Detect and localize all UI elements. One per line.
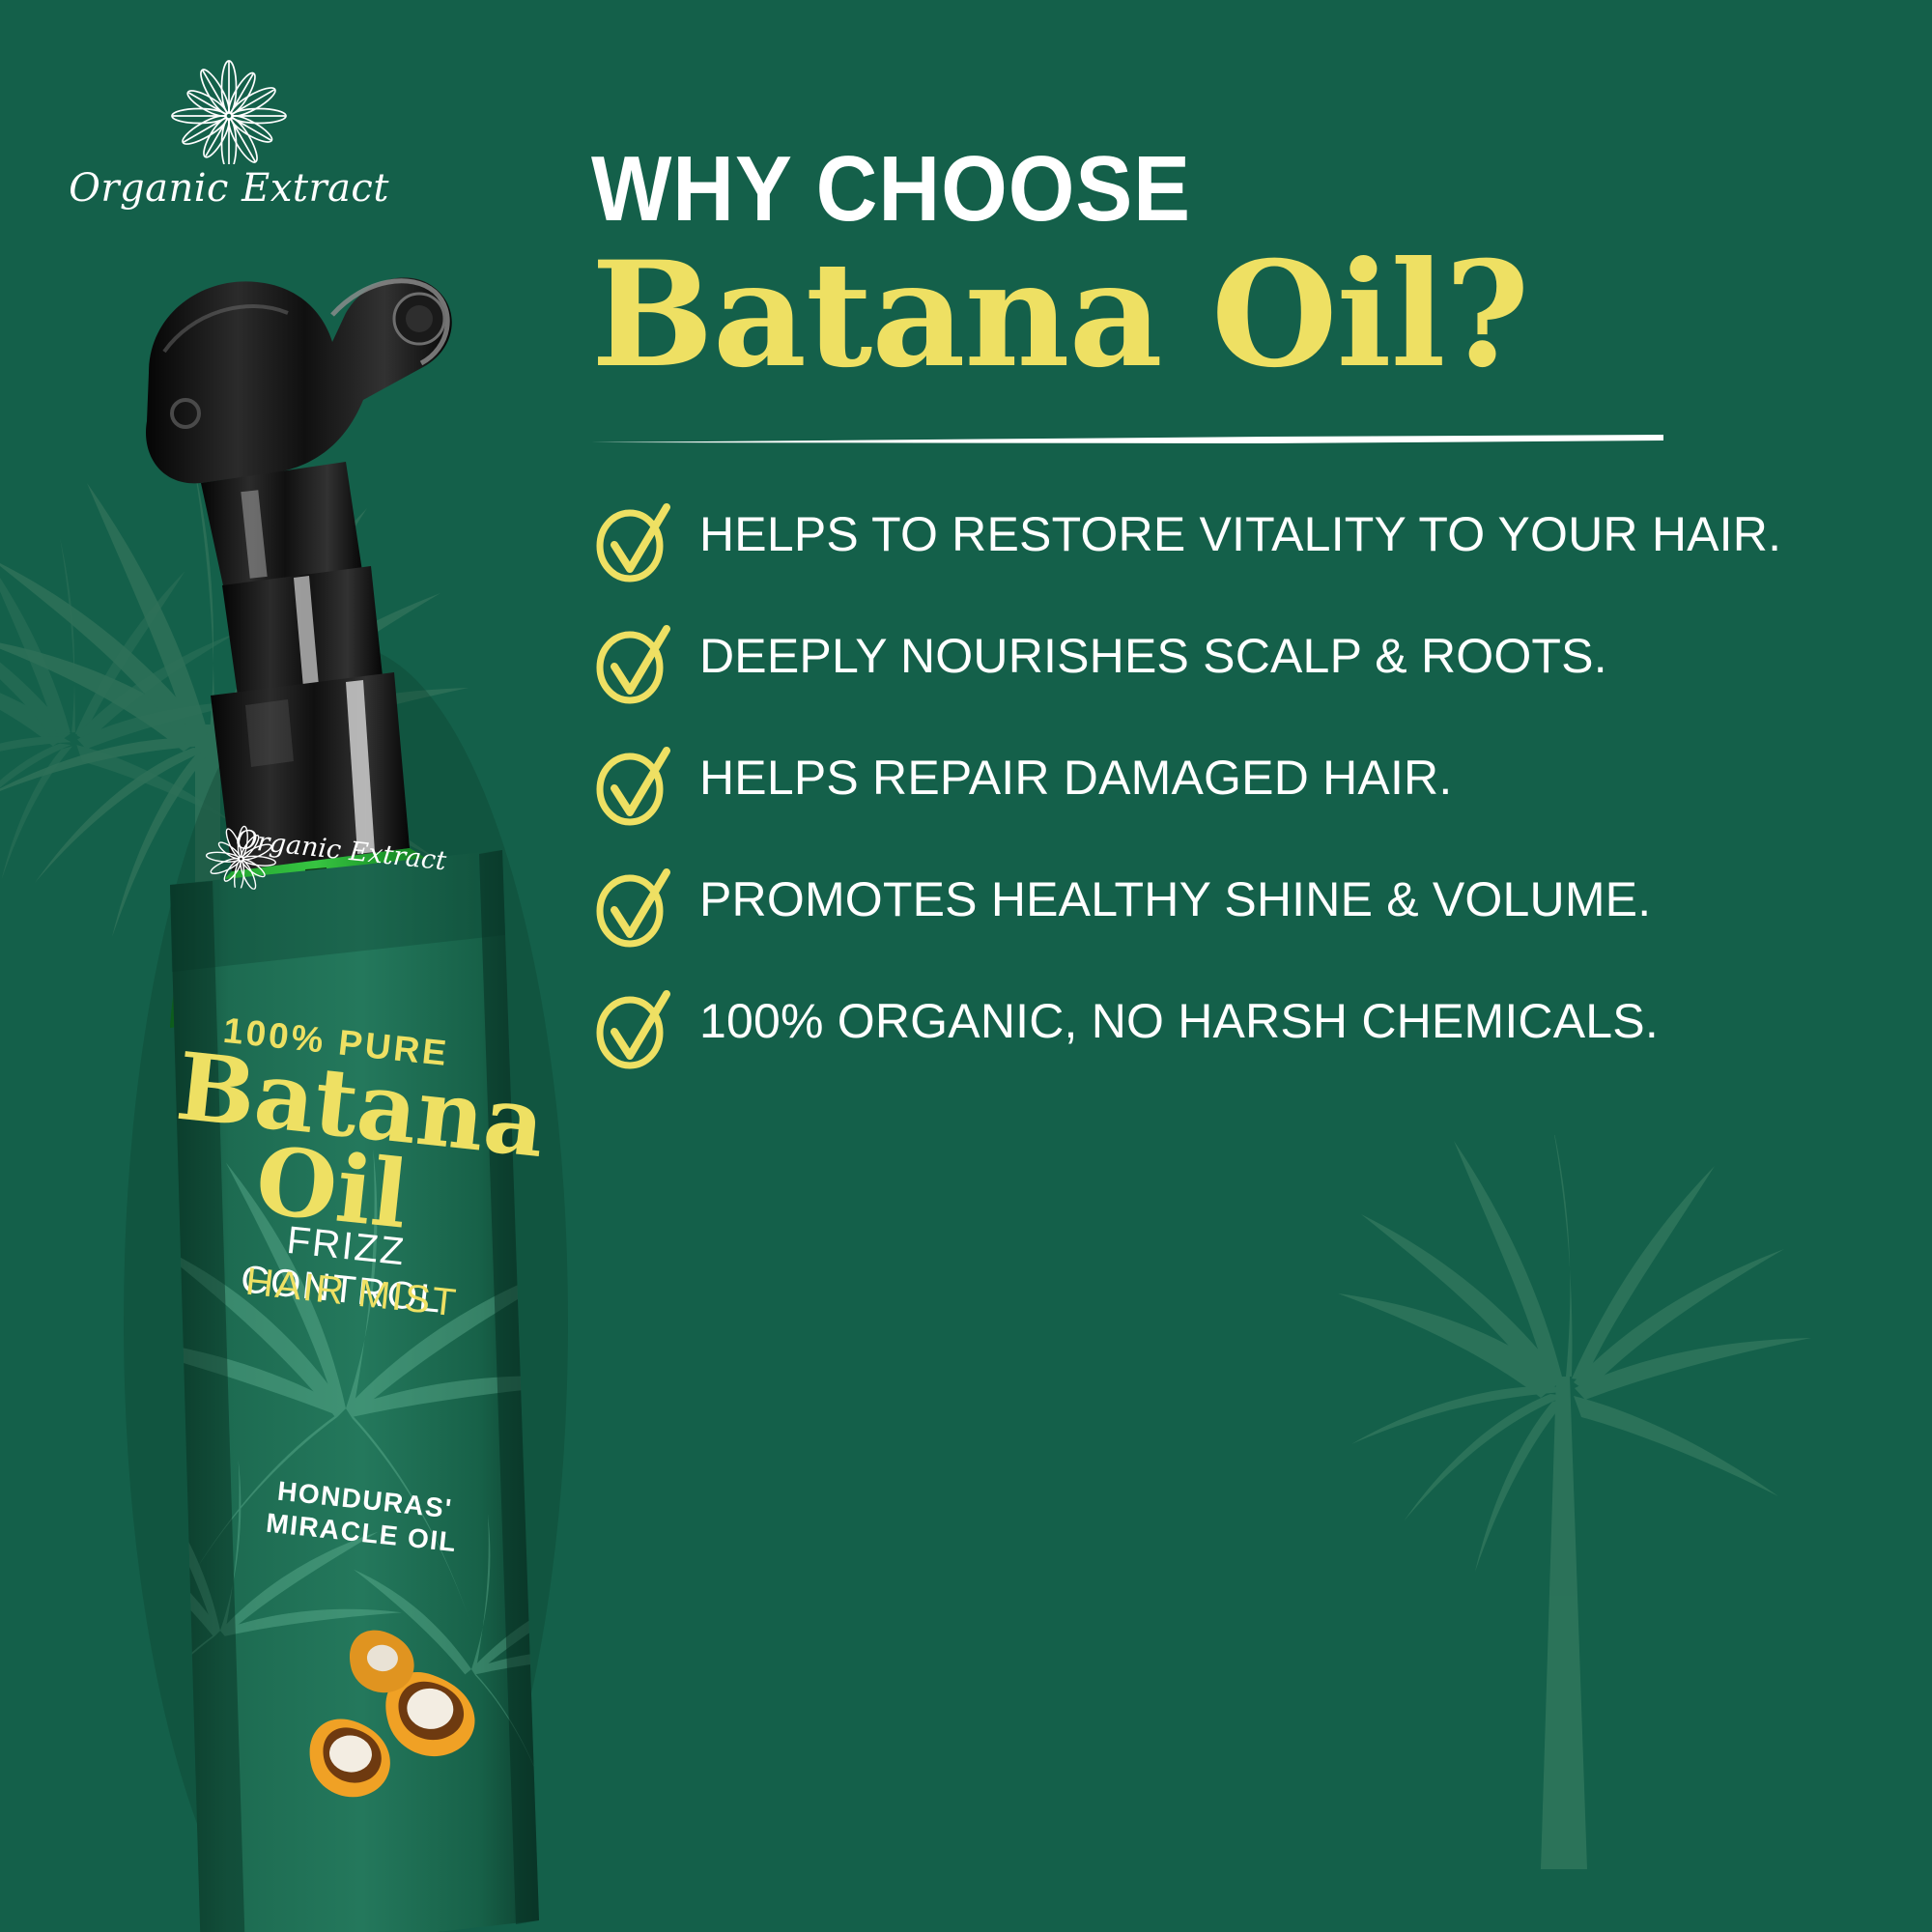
circle-check-icon — [591, 988, 674, 1071]
benefit-item: HELPS TO RESTORE VITALITY TO YOUR HAIR. — [591, 499, 1876, 584]
brand-logo: Organic Extract — [70, 56, 388, 211]
product-bottle: Organic Extract 100% PURE Batana Oil FRI… — [56, 259, 597, 1932]
leaf-starburst-icon — [197, 820, 286, 893]
headline-line-1: WHY CHOOSE — [591, 143, 1774, 236]
benefit-text: HELPS REPAIR DAMAGED HAIR. — [699, 743, 1452, 806]
poster-canvas: Organic Extract WHY CHOOSE Batana Oil? H… — [0, 0, 1932, 1932]
benefit-item: DEEPLY NOURISHES SCALP & ROOTS. — [591, 621, 1876, 706]
leaf-starburst-icon — [156, 56, 301, 164]
benefit-text: DEEPLY NOURISHES SCALP & ROOTS. — [699, 621, 1607, 684]
benefit-text: HELPS TO RESTORE VITALITY TO YOUR HAIR. — [699, 499, 1781, 562]
circle-check-icon — [591, 867, 674, 950]
circle-check-icon — [591, 745, 674, 828]
divider — [591, 434, 1663, 449]
benefit-item: 100% ORGANIC, NO HARSH CHEMICALS. — [591, 986, 1876, 1071]
brand-name: Organic Extract — [69, 166, 389, 211]
palm-silhouette-right — [1251, 1135, 1889, 1869]
tapered-rule-divider-icon — [591, 434, 1663, 449]
circle-check-icon — [591, 501, 674, 584]
content-column: WHY CHOOSE Batana Oil? HELPS TO RESTORE … — [591, 143, 1876, 1071]
benefit-text: PROMOTES HEALTHY SHINE & VOLUME. — [699, 865, 1651, 927]
benefit-item: PROMOTES HEALTHY SHINE & VOLUME. — [591, 865, 1876, 950]
benefit-item: HELPS REPAIR DAMAGED HAIR. — [591, 743, 1876, 828]
headline-line-2: Batana Oil? — [591, 241, 1876, 389]
circle-check-icon — [591, 623, 674, 706]
benefits-list: HELPS TO RESTORE VITALITY TO YOUR HAIR. … — [591, 499, 1876, 1071]
benefit-text: 100% ORGANIC, NO HARSH CHEMICALS. — [699, 986, 1659, 1049]
